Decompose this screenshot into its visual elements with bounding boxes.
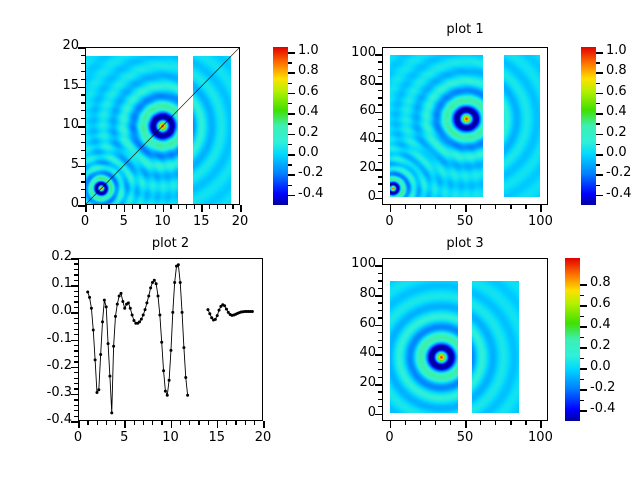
tick-mark [78, 126, 85, 128]
minor-tick-mark [378, 391, 382, 392]
minor-tick-mark [378, 126, 382, 127]
heatmap-image-patch [193, 56, 231, 204]
colorbar-tick-mark [580, 284, 587, 286]
colorbar-minor-tick-mark [288, 83, 292, 84]
plot3-title: plot 3 [382, 236, 548, 251]
heatmap-image-patch [390, 281, 457, 413]
minor-tick-mark [81, 189, 85, 190]
minor-tick-mark [378, 191, 382, 192]
colorbar-tick-mark [596, 93, 603, 95]
tick-mark [171, 421, 173, 428]
colorbar-tick-mark [288, 72, 295, 74]
colorbar-minor-tick-mark [596, 103, 600, 104]
tick-label: 20 [336, 160, 376, 175]
minor-tick-mark [74, 345, 78, 346]
minor-tick-mark [378, 369, 382, 370]
minor-tick-mark [152, 421, 153, 425]
minor-tick-mark [378, 377, 382, 378]
minor-tick-mark [74, 350, 78, 351]
minor-tick-mark [378, 340, 382, 341]
tick-label: 10 [141, 214, 185, 229]
minor-tick-mark [74, 329, 78, 330]
minor-tick-mark [450, 205, 451, 209]
minor-tick-mark [81, 79, 85, 80]
colorbar-minor-tick-mark [580, 316, 584, 317]
tick-label: 0.2 [32, 249, 72, 264]
tick-mark [71, 340, 78, 342]
minor-tick-mark [74, 410, 78, 411]
tick-mark [71, 367, 78, 369]
minor-tick-mark [378, 183, 382, 184]
minor-tick-mark [435, 205, 436, 209]
minor-tick-mark [81, 118, 85, 119]
tick-label: 20 [39, 38, 79, 53]
colorbar-tick-label: 0.2 [298, 125, 319, 140]
minor-tick-mark [378, 162, 382, 163]
minor-tick-mark [378, 90, 382, 91]
tick-label: 0 [368, 214, 412, 229]
tick-label: 20 [336, 375, 376, 390]
colorbar-minor-tick-mark [596, 62, 600, 63]
colorbar-tick-mark [580, 410, 587, 412]
tick-mark [78, 421, 80, 428]
minor-tick-mark [510, 205, 511, 209]
minor-tick-mark [405, 421, 406, 425]
colorbar-minor-tick-mark [580, 379, 584, 380]
tick-label: 0 [63, 214, 107, 229]
tick-mark [201, 205, 203, 212]
tick-mark [78, 205, 85, 207]
minor-tick-mark [74, 361, 78, 362]
minor-tick-mark [420, 205, 421, 209]
tick-mark [71, 394, 78, 396]
minor-tick-mark [480, 421, 481, 425]
tick-label: 0.1 [32, 276, 72, 291]
colorbar-tick-label: -0.2 [606, 165, 631, 180]
colorbar-tick-label: 0.8 [298, 63, 319, 78]
plot3-colorbar-gradient [565, 258, 580, 421]
minor-tick-mark [81, 110, 85, 111]
minor-tick-mark [378, 176, 382, 177]
colorbar-tick-label: 0.2 [606, 125, 627, 140]
minor-tick-mark [147, 205, 148, 209]
minor-tick-mark [378, 280, 382, 281]
minor-tick-mark [198, 421, 199, 425]
colorbar-minor-tick-mark [596, 185, 600, 186]
colorbar-tick-mark [596, 195, 603, 197]
minor-tick-mark [420, 421, 421, 425]
minor-tick-mark [115, 421, 116, 425]
minor-tick-mark [81, 142, 85, 143]
tick-mark [78, 47, 85, 49]
colorbar-tick-label: 1.0 [298, 43, 319, 58]
colorbar-tick-label: 0.0 [590, 359, 611, 374]
minor-tick-mark [74, 388, 78, 389]
minor-tick-mark [74, 378, 78, 379]
minor-tick-mark [435, 421, 436, 425]
tick-label: 10 [149, 430, 193, 445]
minor-tick-mark [235, 421, 236, 425]
minor-tick-mark [139, 205, 140, 209]
minor-tick-mark [245, 421, 246, 425]
colorbar-tick-label: -0.2 [298, 165, 323, 180]
heatmap-image-patch [504, 55, 540, 197]
colorbar-tick-mark [580, 347, 587, 349]
tick-label: 20 [241, 430, 285, 445]
tick-mark [390, 421, 392, 428]
plot2-axes-frame [78, 258, 263, 421]
minor-tick-mark [405, 205, 406, 209]
minor-tick-mark [525, 421, 526, 425]
minor-tick-mark [378, 119, 382, 120]
tick-mark [540, 205, 542, 212]
minor-tick-mark [495, 205, 496, 209]
colorbar-tick-mark [288, 195, 295, 197]
colorbar-tick-mark [580, 326, 587, 328]
colorbar-tick-mark [288, 174, 295, 176]
minor-tick-mark [186, 205, 187, 209]
minor-tick-mark [378, 332, 382, 333]
tick-mark [71, 312, 78, 314]
minor-tick-mark [81, 197, 85, 198]
colorbar-minor-tick-mark [288, 164, 292, 165]
tick-label: 40 [336, 131, 376, 146]
minor-tick-mark [101, 205, 102, 209]
colorbar-tick-label: -0.2 [590, 380, 615, 395]
colorbar-tick-mark [288, 113, 295, 115]
tick-mark [124, 421, 126, 428]
plot0-colorbar [273, 47, 288, 205]
minor-tick-mark [226, 421, 227, 425]
colorbar-tick-label: 0.2 [590, 338, 611, 353]
colorbar-minor-tick-mark [288, 144, 292, 145]
colorbar-tick-mark [288, 154, 295, 156]
minor-tick-mark [108, 205, 109, 209]
minor-tick-mark [97, 421, 98, 425]
plot1-axes-frame [382, 47, 548, 205]
minor-tick-mark [134, 421, 135, 425]
minor-tick-mark [74, 269, 78, 270]
tick-label: 100 [336, 256, 376, 271]
tick-mark [375, 354, 382, 356]
colorbar-tick-label: 0.0 [606, 145, 627, 160]
plot3-colorbar [565, 258, 580, 421]
tick-label: 60 [336, 316, 376, 331]
minor-tick-mark [74, 318, 78, 319]
minor-tick-mark [480, 205, 481, 209]
plot3-axes-frame [382, 258, 548, 421]
minor-tick-mark [74, 399, 78, 400]
minor-tick-mark [74, 372, 78, 373]
minor-tick-mark [81, 134, 85, 135]
tick-mark [163, 205, 165, 212]
tick-mark [124, 205, 126, 212]
tick-mark [240, 205, 242, 212]
tick-mark [375, 198, 382, 200]
minor-tick-mark [525, 205, 526, 209]
minor-tick-mark [378, 302, 382, 303]
minor-tick-mark [74, 301, 78, 302]
minor-tick-mark [378, 155, 382, 156]
tick-label: 100 [518, 430, 562, 445]
tick-label: -0.1 [32, 331, 72, 346]
minor-tick-mark [106, 421, 107, 425]
tick-mark [71, 258, 78, 260]
colorbar-minor-tick-mark [596, 83, 600, 84]
minor-tick-mark [74, 416, 78, 417]
colorbar-tick-label: 0.4 [606, 104, 627, 119]
tick-mark [85, 205, 87, 212]
tick-mark [375, 414, 382, 416]
minor-tick-mark [208, 421, 209, 425]
tick-mark [390, 205, 392, 212]
colorbar-tick-mark [596, 113, 603, 115]
minor-tick-mark [378, 347, 382, 348]
minor-tick-mark [74, 296, 78, 297]
minor-tick-mark [74, 280, 78, 281]
tick-label: -0.3 [32, 385, 72, 400]
colorbar-tick-label: -0.4 [298, 186, 323, 201]
colorbar-tick-mark [288, 52, 295, 54]
colorbar-minor-tick-mark [580, 295, 584, 296]
minor-tick-mark [378, 406, 382, 407]
figure-canvas: 05101520 05101520 -0.4-0.20.00.20.40.60.… [0, 0, 640, 480]
tick-mark [375, 384, 382, 386]
tick-label: 5 [39, 157, 79, 172]
minor-tick-mark [81, 71, 85, 72]
colorbar-tick-mark [596, 52, 603, 54]
plot1-colorbar [581, 47, 596, 205]
tick-label: 100 [518, 214, 562, 229]
tick-label: 50 [443, 430, 487, 445]
tick-label: 50 [443, 214, 487, 229]
colorbar-minor-tick-mark [288, 123, 292, 124]
plot0-axes-frame [85, 47, 240, 205]
tick-label: 0 [336, 405, 376, 420]
tick-mark [465, 421, 467, 428]
colorbar-tick-label: 0.4 [590, 317, 611, 332]
colorbar-minor-tick-mark [596, 164, 600, 165]
minor-tick-mark [178, 205, 179, 209]
minor-tick-mark [378, 399, 382, 400]
minor-tick-mark [378, 69, 382, 70]
minor-tick-mark [225, 205, 226, 209]
tick-mark [375, 325, 382, 327]
minor-tick-mark [378, 310, 382, 311]
minor-tick-mark [132, 205, 133, 209]
tick-mark [375, 295, 382, 297]
minor-tick-mark [81, 158, 85, 159]
minor-tick-mark [81, 94, 85, 95]
colorbar-tick-label: 0.6 [606, 84, 627, 99]
plot0-colorbar-gradient [273, 47, 288, 205]
minor-tick-mark [74, 274, 78, 275]
minor-tick-mark [81, 173, 85, 174]
minor-tick-mark [378, 61, 382, 62]
minor-tick-mark [81, 63, 85, 64]
tick-label: 5 [102, 430, 146, 445]
colorbar-tick-label: 0.0 [298, 145, 319, 160]
colorbar-tick-label: 0.4 [298, 104, 319, 119]
colorbar-tick-mark [288, 93, 295, 95]
colorbar-minor-tick-mark [580, 337, 584, 338]
colorbar-tick-mark [580, 305, 587, 307]
tick-mark [465, 205, 467, 212]
tick-label: 0 [56, 430, 100, 445]
tick-mark [375, 83, 382, 85]
colorbar-minor-tick-mark [580, 400, 584, 401]
tick-mark [375, 169, 382, 171]
minor-tick-mark [74, 334, 78, 335]
tick-label: 5 [102, 214, 146, 229]
minor-tick-mark [378, 76, 382, 77]
colorbar-minor-tick-mark [288, 103, 292, 104]
heatmap-image-patch [390, 55, 482, 197]
colorbar-minor-tick-mark [580, 358, 584, 359]
minor-tick-mark [378, 288, 382, 289]
tick-mark [263, 421, 265, 428]
minor-tick-mark [378, 362, 382, 363]
tick-label: 15 [195, 430, 239, 445]
minor-tick-mark [189, 421, 190, 425]
minor-tick-mark [378, 104, 382, 105]
colorbar-minor-tick-mark [288, 185, 292, 186]
tick-label: 80 [336, 74, 376, 89]
tick-mark [375, 140, 382, 142]
colorbar-minor-tick-mark [596, 123, 600, 124]
tick-mark [375, 265, 382, 267]
plot1-title: plot 1 [382, 22, 548, 37]
minor-tick-mark [74, 323, 78, 324]
minor-tick-mark [510, 421, 511, 425]
minor-tick-mark [74, 307, 78, 308]
minor-tick-mark [155, 205, 156, 209]
minor-tick-mark [81, 55, 85, 56]
tick-mark [71, 285, 78, 287]
tick-label: -0.2 [32, 358, 72, 373]
tick-label: 0.0 [32, 303, 72, 318]
colorbar-minor-tick-mark [596, 144, 600, 145]
tick-label: 15 [39, 78, 79, 93]
colorbar-tick-label: 0.8 [606, 63, 627, 78]
minor-tick-mark [74, 356, 78, 357]
colorbar-tick-mark [580, 368, 587, 370]
minor-tick-mark [495, 421, 496, 425]
tick-label: 100 [336, 45, 376, 60]
colorbar-tick-mark [596, 72, 603, 74]
colorbar-tick-label: -0.4 [590, 401, 615, 416]
tick-mark [375, 112, 382, 114]
tick-label: 20 [218, 214, 262, 229]
minor-tick-mark [74, 263, 78, 264]
minor-tick-mark [74, 405, 78, 406]
colorbar-tick-label: 0.8 [590, 275, 611, 290]
tick-label: 80 [336, 286, 376, 301]
colorbar-tick-mark [288, 134, 295, 136]
minor-tick-mark [170, 205, 171, 209]
minor-tick-mark [209, 205, 210, 209]
tick-mark [217, 421, 219, 428]
minor-tick-mark [93, 205, 94, 209]
minor-tick-mark [81, 181, 85, 182]
colorbar-tick-label: -0.4 [606, 186, 631, 201]
minor-tick-mark [74, 383, 78, 384]
minor-tick-mark [74, 291, 78, 292]
minor-tick-mark [180, 421, 181, 425]
tick-mark [375, 54, 382, 56]
heatmap-image-patch [472, 281, 518, 413]
tick-label: 0 [368, 430, 412, 445]
plot2-title: plot 2 [78, 236, 263, 251]
minor-tick-mark [378, 317, 382, 318]
tick-mark [78, 166, 85, 168]
minor-tick-mark [378, 133, 382, 134]
tick-label: -0.4 [32, 412, 72, 427]
colorbar-tick-mark [596, 154, 603, 156]
minor-tick-mark [378, 273, 382, 274]
minor-tick-mark [378, 148, 382, 149]
tick-label: 15 [179, 214, 223, 229]
tick-label: 60 [336, 103, 376, 118]
colorbar-tick-mark [596, 134, 603, 136]
minor-tick-mark [81, 102, 85, 103]
tick-mark [540, 421, 542, 428]
colorbar-tick-mark [596, 174, 603, 176]
minor-tick-mark [161, 421, 162, 425]
tick-label: 0 [39, 196, 79, 211]
tick-label: 10 [39, 117, 79, 132]
minor-tick-mark [450, 421, 451, 425]
minor-tick-mark [143, 421, 144, 425]
colorbar-tick-label: 1.0 [606, 43, 627, 58]
colorbar-minor-tick-mark [288, 62, 292, 63]
heatmap-image-patch [86, 56, 178, 204]
colorbar-tick-mark [580, 389, 587, 391]
minor-tick-mark [254, 421, 255, 425]
tick-mark [71, 421, 78, 423]
tick-label: 0 [336, 189, 376, 204]
minor-tick-mark [232, 205, 233, 209]
colorbar-tick-label: 0.6 [590, 296, 611, 311]
plot1-colorbar-gradient [581, 47, 596, 205]
minor-tick-mark [116, 205, 117, 209]
minor-tick-mark [194, 205, 195, 209]
minor-tick-mark [87, 421, 88, 425]
tick-mark [78, 87, 85, 89]
tick-label: 40 [336, 345, 376, 360]
minor-tick-mark [217, 205, 218, 209]
colorbar-tick-label: 0.6 [298, 84, 319, 99]
minor-tick-mark [81, 150, 85, 151]
minor-tick-mark [378, 97, 382, 98]
